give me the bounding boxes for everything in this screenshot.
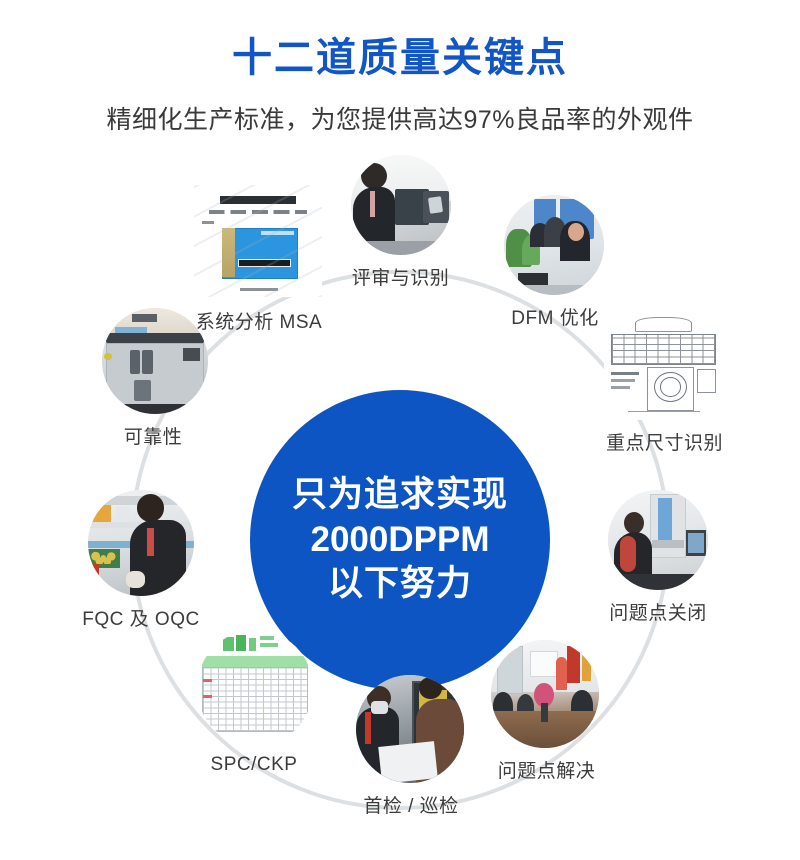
node-reliability-label: 可靠性 xyxy=(108,422,198,449)
node-issue-solve-label: 问题点解决 xyxy=(484,756,609,783)
node-first-patrol-label: 首检 / 巡检 xyxy=(347,791,475,818)
node-dfm-label: DFM 优化 xyxy=(505,303,605,330)
node-review[interactable]: 评审与识别 xyxy=(348,155,453,255)
hub-line-3: 以下努力 xyxy=(328,562,472,607)
fqc-oqc-thumbnail xyxy=(88,490,194,596)
node-key-dimension[interactable]: 重点尺寸识别 xyxy=(601,310,726,420)
hub-line-1: 只为追求实现 xyxy=(292,473,508,518)
node-spc-ckp-label: SPC/CKP xyxy=(209,754,299,776)
node-review-label: 评审与识别 xyxy=(343,263,458,290)
review-thumbnail xyxy=(351,155,451,255)
node-issue-close[interactable]: 问题点关闭 xyxy=(605,490,710,590)
node-issue-solve[interactable]: 问题点解决 xyxy=(490,640,600,748)
issue-close-thumbnail xyxy=(608,490,708,590)
node-key-dimension-label: 重点尺寸识别 xyxy=(592,428,737,455)
issue-solve-thumbnail xyxy=(491,640,599,748)
node-first-patrol[interactable]: 首检 / 巡检 xyxy=(355,675,465,783)
key-dimension-thumbnail xyxy=(604,310,724,420)
first-patrol-thumbnail xyxy=(356,675,464,783)
hub-line-2: 2000DPPM xyxy=(311,518,490,563)
node-fqc-oqc[interactable]: FQC 及 OQC xyxy=(87,490,195,596)
node-msa[interactable]: 系统分析 MSA xyxy=(193,185,323,297)
page-subtitle: 精细化生产标准，为您提供高达97%良品率的外观件 xyxy=(0,100,800,136)
node-issue-close-label: 问题点关闭 xyxy=(593,598,723,625)
node-spc-ckp[interactable]: SPC/CKP xyxy=(195,630,315,746)
dfm-thumbnail xyxy=(504,195,604,295)
page-title: 十二道质量关键点 xyxy=(0,38,800,78)
node-msa-label: 系统分析 MSA xyxy=(189,307,329,334)
header: 十二道质量关键点 精细化生产标准，为您提供高达97%良品率的外观件 xyxy=(0,0,800,136)
spc-ckp-thumbnail xyxy=(197,630,313,746)
node-fqc-oqc-label: FQC 及 OQC xyxy=(76,604,206,631)
msa-thumbnail xyxy=(194,185,322,297)
quality-keypoints-infographic: 十二道质量关键点 精细化生产标准，为您提供高达97%良品率的外观件 只为追求实现… xyxy=(0,0,800,860)
node-dfm[interactable]: DFM 优化 xyxy=(501,195,606,295)
circular-diagram: 只为追求实现 2000DPPM 以下努力 评审与识别 xyxy=(0,145,800,860)
